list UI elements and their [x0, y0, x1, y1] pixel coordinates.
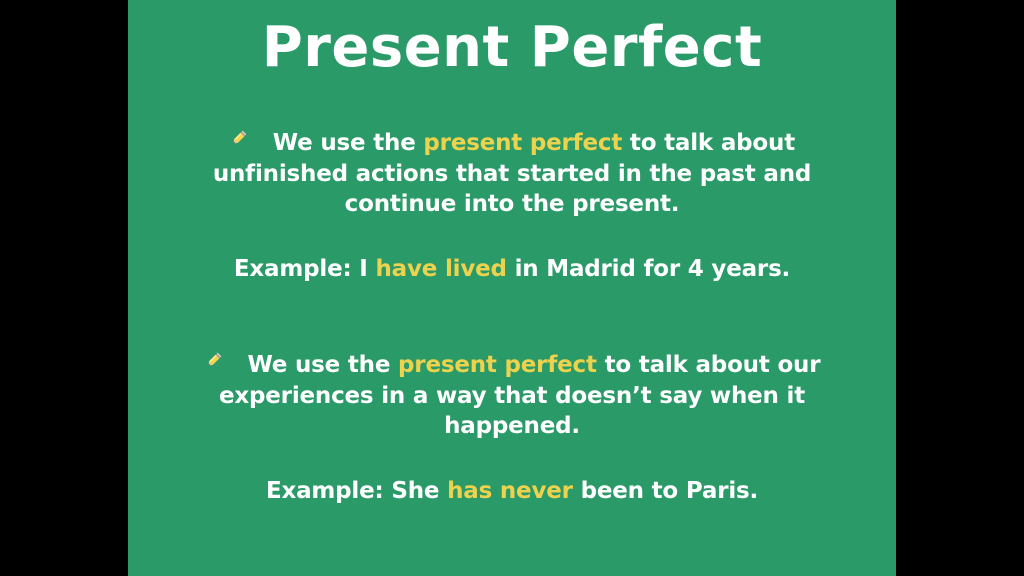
rule-statement-2-highlight: present perfect: [398, 352, 597, 378]
pencil-icon: [229, 128, 249, 148]
letterbox-bar-right: [896, 0, 1024, 576]
slide-canvas: Present Perfect W: [128, 0, 896, 576]
rule-block-1: We use the present perfect to talk about…: [164, 128, 860, 284]
rule-statement-2: We use the present perfect to talk about…: [164, 350, 860, 442]
video-slide-screen: Present Perfect W: [0, 0, 1024, 576]
page-title: Present Perfect: [128, 16, 896, 80]
rule-example-1-highlight: have lived: [375, 256, 506, 282]
pencil-icon: [204, 350, 224, 370]
rule-statement-2-lead: We use the: [247, 352, 398, 378]
rule-example-2-highlight: has never: [447, 478, 573, 504]
rule-statement-1-lead: We use the: [273, 130, 424, 156]
rule-example-2: Example: She has never been to Paris.: [164, 476, 860, 507]
letterbox-bar-left: [0, 0, 128, 576]
rule-example-2-tail: been to Paris.: [573, 478, 758, 504]
rule-statement-1: We use the present perfect to talk about…: [164, 128, 860, 220]
rule-example-1-tail: in Madrid for 4 years.: [507, 256, 790, 282]
rule-example-1: Example: I have lived in Madrid for 4 ye…: [164, 254, 860, 285]
rule-example-1-lead: Example: I: [234, 256, 376, 282]
rule-example-2-lead: Example: She: [266, 478, 447, 504]
rule-statement-1-highlight: present perfect: [423, 130, 622, 156]
rule-block-2: We use the present perfect to talk about…: [164, 350, 860, 506]
